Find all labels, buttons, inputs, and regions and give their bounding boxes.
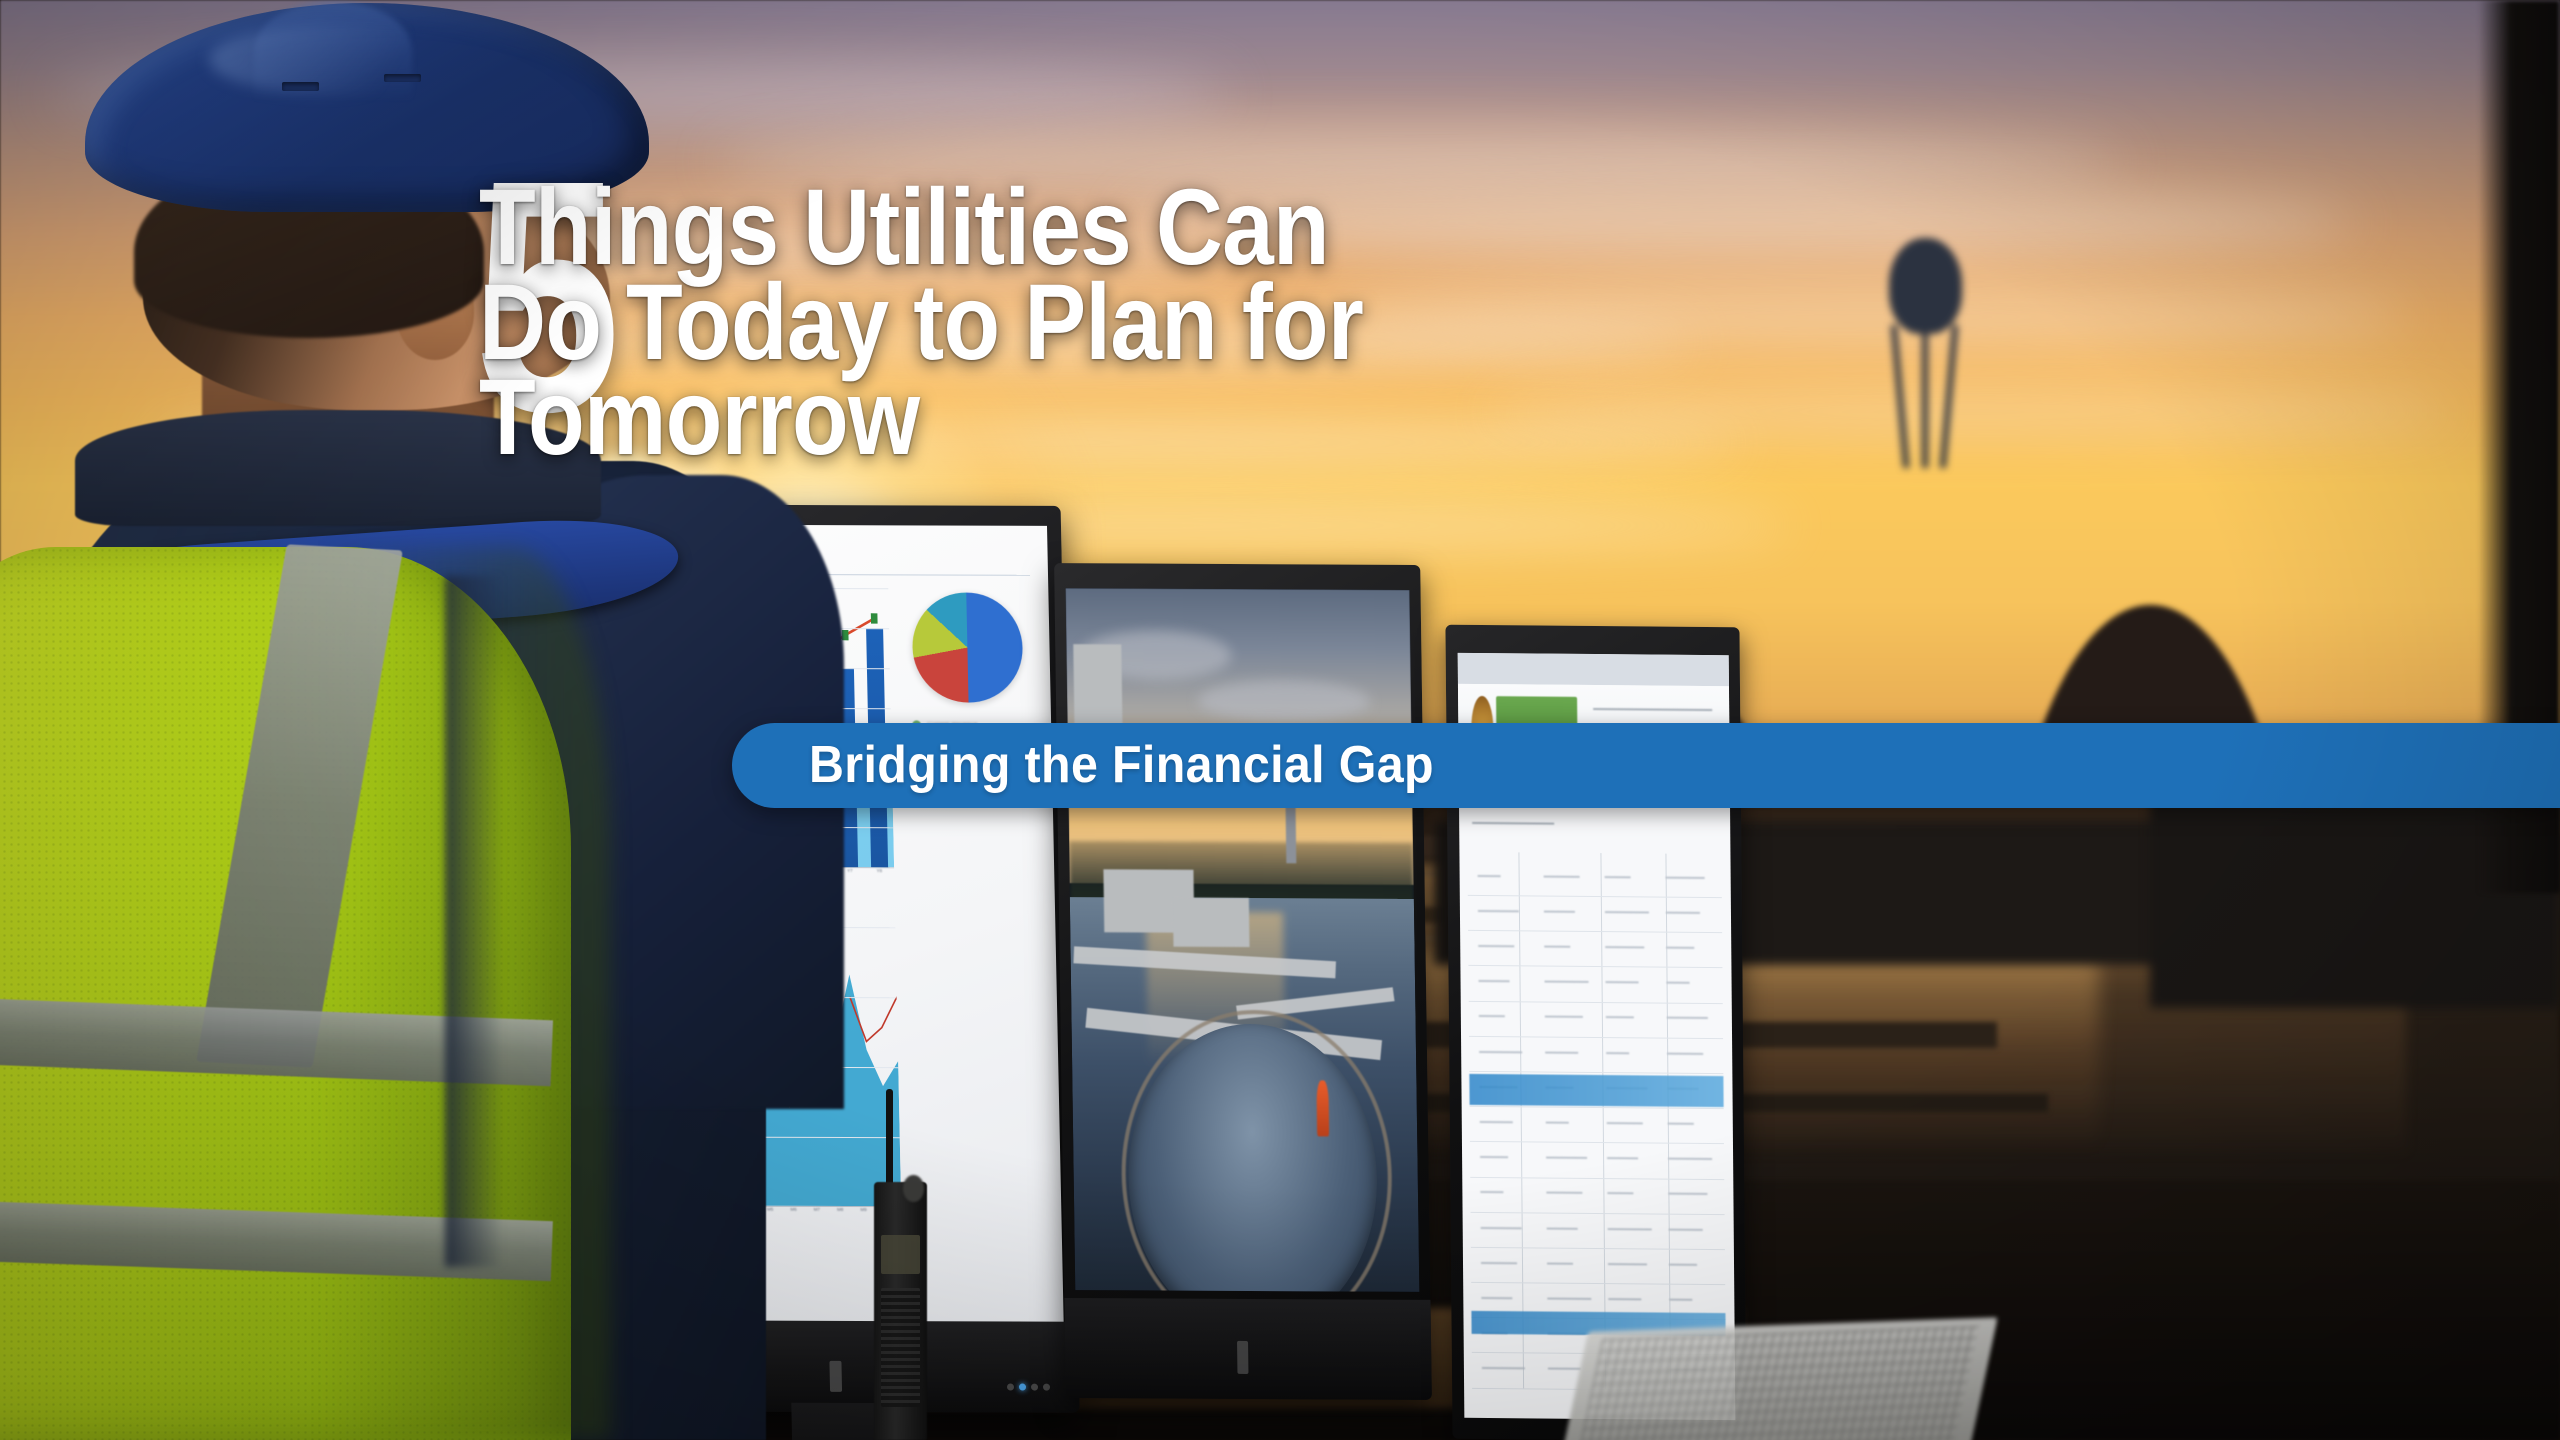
selected-row[interactable] [1469,1074,1724,1107]
cell-text [1668,1123,1693,1125]
cell-text [1669,1193,1707,1195]
promo-banner: Financial Forecast 0$10m$20m$30m$40m$50m… [0,0,2560,1440]
spreadsheet-row[interactable] [1469,1001,1724,1039]
cell-text [1481,1227,1522,1229]
cell-text [1606,982,1639,984]
headline-line-3: Tomorrow [479,369,2240,464]
cell-text [1480,1157,1508,1159]
cell-text [1478,945,1514,947]
app-titlebar [1457,654,1728,687]
plant-camera-monitor[interactable] [1054,564,1432,1401]
cell-text [1480,1121,1513,1123]
spreadsheet-row[interactable] [1470,1142,1725,1180]
cell-text [1666,912,1699,914]
cell-text [1547,1227,1578,1229]
subtitle-text: Bridging the Financial Gap [809,735,1434,795]
cell-text [1608,1228,1651,1230]
headline-line-2: Do Today to Plan for [479,274,2240,369]
cell-text [1546,1122,1569,1124]
cell-text [1481,1262,1517,1264]
spreadsheet-row[interactable] [1469,1106,1724,1144]
cell-text [1669,1229,1702,1231]
cell-text [1545,981,1588,983]
monitor-power-leds[interactable] [1007,1383,1050,1390]
cell-text [1667,982,1690,984]
subtitle-banner: Bridging the Financial Gap [732,723,2560,808]
cell-text [1668,1053,1704,1055]
cell-text [1606,1052,1629,1054]
cell-text [1607,1158,1638,1160]
cell-text [1605,876,1630,878]
cell-text [1544,911,1575,913]
cell-text [1667,947,1695,949]
cell-text [1548,1368,1581,1370]
cell-text [1482,1368,1525,1370]
cell-text [1480,1192,1503,1194]
radio-knob[interactable] [903,1175,924,1201]
cell-text [1608,1263,1646,1265]
cell-text [1547,1298,1590,1300]
headline-line-1: Things Utilities Can [479,179,2240,274]
cell-text [1478,910,1519,912]
radio-display [881,1235,921,1275]
cell-text [1479,1051,1522,1053]
spreadsheet-row[interactable] [1467,860,1722,898]
spreadsheet-row[interactable] [1468,966,1723,1004]
cell-text [1478,875,1501,877]
cell-text [1544,946,1569,948]
monitor-screen[interactable] [1065,589,1419,1292]
cell-text [1605,911,1648,913]
pie-chart [911,592,1024,703]
cell-text [1544,876,1580,878]
cell-text [1547,1192,1583,1194]
two-way-radio[interactable] [860,1109,939,1440]
spreadsheet-row[interactable] [1469,1036,1724,1074]
cell-text [1606,947,1644,949]
cell-text [1479,1016,1504,1018]
radio-keypad[interactable] [881,1288,921,1407]
vest-edge-shadow [445,576,503,1267]
cell-text [1669,1264,1697,1266]
cell-text [1608,1193,1633,1195]
cell-text [1606,1017,1634,1019]
cell-text [1547,1263,1572,1265]
spreadsheet-row[interactable] [1470,1212,1725,1250]
page-title: Things Utilities Can Do Today to Plan fo… [479,179,2240,464]
cell-text [1668,1158,1711,1160]
photo-equipment [1173,898,1249,947]
form-line [1472,822,1553,825]
spreadsheet-row[interactable] [1471,1247,1726,1285]
cell-text [1479,981,1510,983]
photo-safety-cone [1316,1081,1329,1137]
keyboard[interactable] [1561,1317,1998,1440]
cell-text [1546,1157,1587,1159]
cell-text [1609,1298,1642,1300]
monitor-brand-logo [1237,1341,1248,1374]
pie-chart-panel [902,582,1033,703]
spreadsheet-row[interactable] [1468,895,1723,933]
spreadsheet-row[interactable] [1470,1177,1725,1215]
cell-text [1670,1299,1693,1301]
cell-text [1607,1122,1643,1124]
cell-text [1667,1017,1708,1019]
cell-text [1666,877,1704,879]
cell-text [1545,1052,1578,1054]
spreadsheet-row[interactable] [1468,931,1723,969]
cell-text [1545,1016,1583,1018]
cell-text [1481,1297,1512,1299]
